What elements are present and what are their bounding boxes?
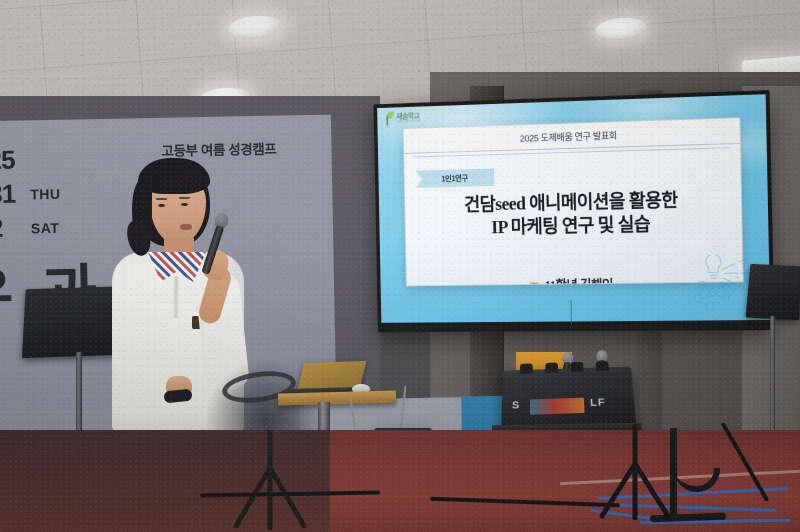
rack-notch	[545, 363, 558, 373]
chevron-right-icon: »»	[530, 279, 538, 287]
slide-header: 2025 도제배움 연구 발표회	[404, 118, 740, 154]
rack-notch	[520, 363, 533, 373]
sprout-leaf-icon	[384, 111, 394, 126]
banner-weekday: THU	[30, 186, 61, 203]
banner-date: 2	[0, 213, 3, 244]
photo-scene: 고등부 여름 성경캠프 25 31 2 THU SAT 유 과 증 내가 주의 …	[0, 0, 800, 532]
slide-title: 건담seed 애니메이션을 활용한 IP 마케팅 연구 및 실습	[405, 188, 742, 242]
banner-date: 25	[0, 145, 15, 177]
slide-title-line1: 건담seed 애니메이션을 활용한	[464, 190, 678, 215]
presenter-eye	[181, 203, 188, 206]
drum-stand-tripod	[222, 430, 318, 530]
slide-title-line2: IP 마케팅 연구 및 실습	[405, 212, 741, 242]
projection-screen: 새숨학교 SAESUM SCHOOL 2025 도제배움 연구 발표회 1인1연…	[373, 90, 774, 332]
school-logo: 새숨학교 SAESUM SCHOOL	[384, 110, 421, 126]
banner-weekday: SAT	[31, 220, 60, 237]
presenter-eye	[158, 204, 165, 207]
rack-notch	[570, 362, 583, 372]
presenter-eyebrow	[179, 197, 190, 199]
presenter-name: 11학년 김해인	[545, 274, 614, 286]
banner-date: 31	[0, 179, 15, 211]
banner-heading: 고등부 여름 성경캠프	[161, 136, 337, 160]
research-ribbon-badge: 1인1연구	[415, 169, 494, 188]
music-stand	[748, 262, 800, 320]
ribbon-label: 1인1연구	[441, 173, 468, 184]
school-logo-tagline: SAESUM SCHOOL	[396, 120, 421, 124]
speaker-tripod	[590, 424, 680, 520]
rack-sticker	[530, 398, 585, 415]
rack-notch	[596, 361, 609, 371]
presenter-mouth	[180, 224, 192, 230]
slide-header-title: 2025 도제배움 연구 발표회	[520, 127, 617, 144]
presenter-eyebrow	[156, 198, 167, 200]
rack-brand-right: LF	[590, 397, 606, 409]
header-divider	[413, 147, 730, 157]
rack-brand-left: S	[512, 400, 520, 412]
slide-surface: 새숨학교 SAESUM SCHOOL 2025 도제배움 연구 발표회 1인1연…	[377, 94, 770, 323]
shirt-placket	[174, 276, 178, 318]
